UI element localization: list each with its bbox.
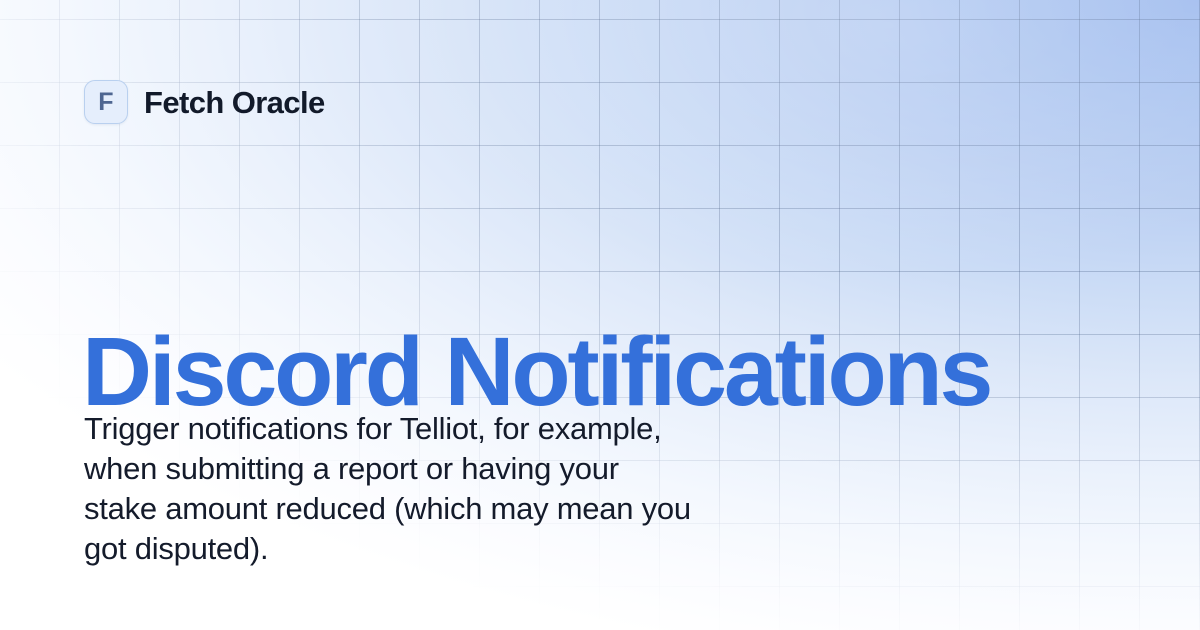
- brand-lockup: F Fetch Oracle: [84, 80, 325, 124]
- description-line: stake amount reduced (which may mean you: [84, 489, 884, 529]
- card-content: F Fetch Oracle Discord Notifications Tri…: [0, 0, 1200, 630]
- description-line: Trigger notifications for Telliot, for e…: [84, 409, 884, 449]
- page-title: Discord Notifications: [82, 323, 990, 420]
- brand-name: Fetch Oracle: [144, 87, 325, 118]
- description-line: got disputed).: [84, 529, 884, 569]
- description-line: when submitting a report or having your: [84, 449, 884, 489]
- page-description: Trigger notifications for Telliot, for e…: [84, 409, 884, 569]
- og-share-card: F Fetch Oracle Discord Notifications Tri…: [0, 0, 1200, 630]
- brand-logo-letter: F: [98, 90, 113, 115]
- brand-logo-badge: F: [84, 80, 128, 124]
